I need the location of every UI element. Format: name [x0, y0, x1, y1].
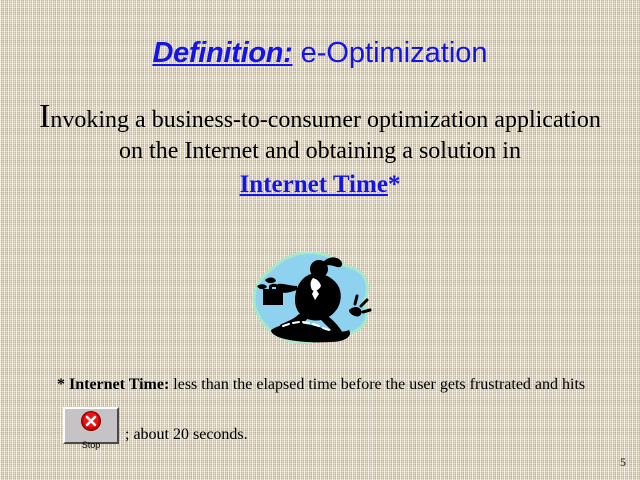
slide-canvas: Definition: e-Optimization Invoking a bu…: [0, 0, 640, 480]
running-businessman-clipart: [249, 252, 373, 350]
footnote-term: Internet Time:: [65, 376, 169, 393]
footnote-marker: *: [57, 376, 65, 393]
footnote-text-before: less than the elapsed time before the us…: [169, 376, 585, 393]
slide-body-text: Invoking a business-to-consumer optimiza…: [32, 101, 608, 201]
body-dropcap: I: [39, 98, 50, 135]
internet-time-footnote-marker: *: [388, 171, 401, 198]
page-number: 5: [620, 455, 626, 470]
footnote-text-after: ; about 20 seconds.: [125, 426, 248, 443]
title-definition-label: Definition:: [152, 37, 292, 69]
stop-button[interactable]: Stop: [63, 407, 119, 444]
internet-time-line: Internet Time*: [32, 169, 608, 201]
stop-button-label: Stop: [65, 440, 117, 450]
stop-x-icon: [65, 410, 117, 441]
body-text: nvoking a business-to-consumer optimizat…: [50, 107, 601, 164]
footnote-block: * Internet Time: less than the elapsed t…: [57, 372, 587, 448]
slide-title: Definition: e-Optimization: [0, 37, 640, 70]
title-main-label: e-Optimization: [293, 37, 488, 69]
internet-time-link[interactable]: Internet Time: [240, 171, 388, 198]
